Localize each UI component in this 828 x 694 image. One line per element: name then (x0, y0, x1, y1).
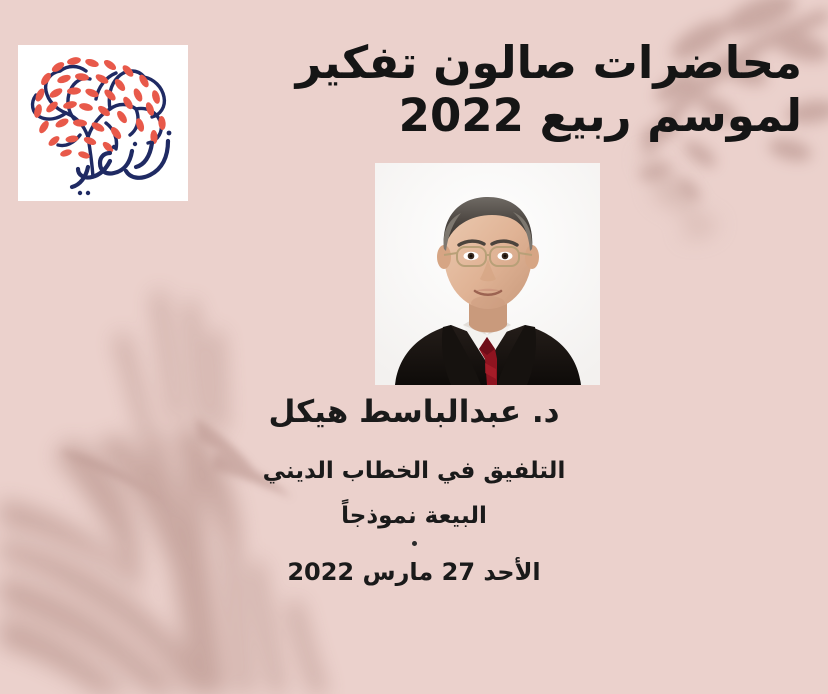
event-poster: محاضرات صالون تفكير لموسم ربيع 2022 (0, 0, 828, 694)
speaker-name: د. عبدالباسط هيكل (0, 394, 828, 431)
stem-shadow-icon (640, 152, 720, 241)
separator-dot (412, 541, 417, 546)
event-details: د. عبدالباسط هيكل التلفيق في الخطاب الدي… (0, 394, 828, 586)
tafkeer-wordmark-icon (72, 141, 168, 187)
event-date: الأحد 27 مارس 2022 (0, 558, 828, 587)
headline-line-1: محاضرات صالون تفكير (242, 36, 802, 89)
tafkeer-logo-icon (18, 45, 188, 201)
lecture-title-line-2: البيعة نموذجاً (0, 502, 828, 531)
lecture-title-line-1: التلفيق في الخطاب الديني (0, 457, 828, 486)
speaker-portrait (375, 163, 600, 385)
headline-line-2: لموسم ربيع 2022 (242, 89, 802, 142)
page-title: محاضرات صالون تفكير لموسم ربيع 2022 (242, 36, 802, 142)
tafkeer-logo-card (18, 45, 188, 201)
speaker-portrait-image (375, 163, 600, 385)
